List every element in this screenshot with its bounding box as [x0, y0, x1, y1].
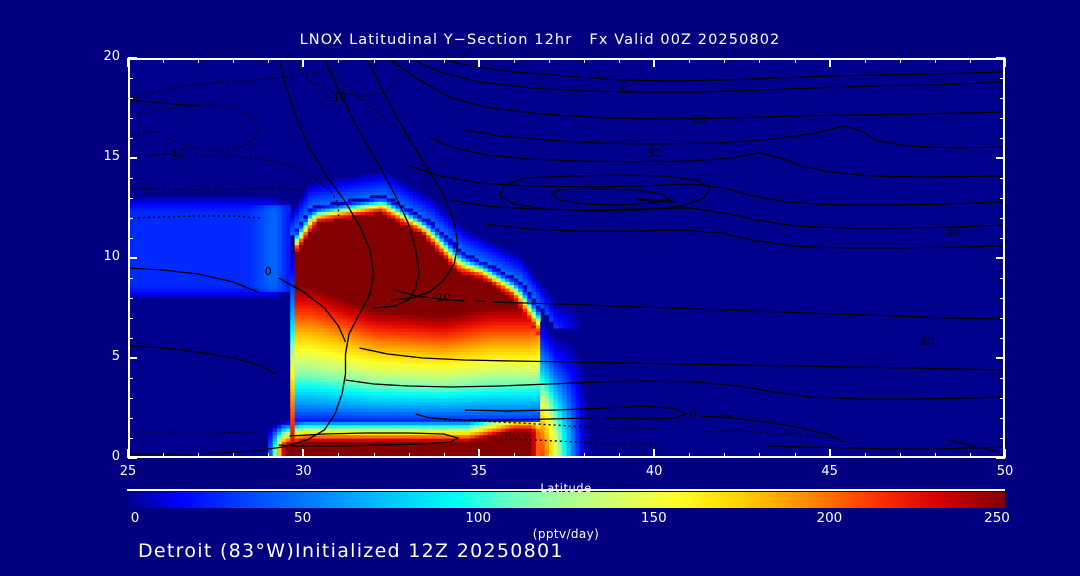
x-tick-mark [829, 58, 831, 67]
x-minor-tick [619, 58, 620, 63]
y-minor-tick [128, 218, 133, 219]
figure-canvas: LNOX Latitudinal Y−Section 12hr Fx Valid… [0, 0, 1080, 576]
x-tick-mark [127, 58, 129, 67]
y-minor-tick [1000, 338, 1005, 339]
x-tick-mark [653, 449, 655, 458]
x-tick-mark [302, 58, 304, 67]
y-tick-mark [128, 357, 137, 359]
y-minor-tick [1000, 98, 1005, 99]
x-tick-label: 30 [283, 464, 323, 479]
y-tick-mark [128, 157, 137, 159]
plot-area: −10−1010203030101000 [128, 58, 1005, 458]
colorbar-tick-label: 250 [967, 510, 1027, 526]
y-tick-mark [128, 57, 137, 59]
x-minor-tick [163, 453, 164, 458]
y-minor-tick [1000, 178, 1005, 179]
y-minor-tick [1000, 78, 1005, 79]
x-minor-tick [444, 58, 445, 63]
x-tick-mark [653, 58, 655, 67]
x-tick-mark [1004, 449, 1006, 458]
x-minor-tick [268, 58, 269, 63]
y-minor-tick [128, 378, 133, 379]
x-minor-tick [970, 58, 971, 63]
y-minor-tick [128, 338, 133, 339]
x-minor-tick [409, 58, 410, 63]
x-minor-tick [374, 58, 375, 63]
colorbar-tick-label: 200 [799, 510, 859, 526]
x-minor-tick [689, 453, 690, 458]
colorbar-units: (pptv/day) [127, 527, 1005, 541]
x-minor-tick [233, 58, 234, 63]
y-minor-tick [128, 278, 133, 279]
y-tick-label: 0 [80, 449, 120, 464]
x-minor-tick [689, 58, 690, 63]
x-minor-tick [163, 58, 164, 63]
y-minor-tick [128, 178, 133, 179]
colorbar-tick-label: 0 [105, 510, 165, 526]
x-tick-mark [478, 449, 480, 458]
y-minor-tick [1000, 218, 1005, 219]
y-minor-tick [1000, 138, 1005, 139]
y-tick-mark [996, 357, 1005, 359]
colorbar-gradient [127, 492, 1005, 508]
y-minor-tick [128, 438, 133, 439]
y-tick-mark [996, 157, 1005, 159]
x-minor-tick [724, 453, 725, 458]
y-minor-tick [1000, 418, 1005, 419]
x-minor-tick [338, 58, 339, 63]
y-tick-label: 5 [80, 349, 120, 364]
x-minor-tick [900, 58, 901, 63]
y-minor-tick [1000, 438, 1005, 439]
x-minor-tick [759, 58, 760, 63]
y-tick-label: 20 [80, 49, 120, 64]
colorbar-top-rule [127, 489, 1005, 491]
figure-title: LNOX Latitudinal Y−Section 12hr Fx Valid… [0, 32, 1080, 48]
x-minor-tick [935, 58, 936, 63]
x-minor-tick [759, 453, 760, 458]
x-minor-tick [619, 453, 620, 458]
x-minor-tick [935, 453, 936, 458]
x-tick-mark [478, 58, 480, 67]
colorbar-tick-label: 150 [624, 510, 684, 526]
x-tick-mark [1004, 58, 1006, 67]
x-minor-tick [584, 453, 585, 458]
x-minor-tick [514, 58, 515, 63]
y-tick-mark [128, 257, 137, 259]
y-minor-tick [128, 98, 133, 99]
x-minor-tick [795, 453, 796, 458]
y-minor-tick [1000, 118, 1005, 119]
x-tick-label: 50 [985, 464, 1025, 479]
y-minor-tick [128, 238, 133, 239]
y-minor-tick [1000, 378, 1005, 379]
y-minor-tick [128, 138, 133, 139]
y-minor-tick [1000, 298, 1005, 299]
x-minor-tick [900, 453, 901, 458]
x-minor-tick [444, 453, 445, 458]
y-tick-mark [996, 257, 1005, 259]
x-minor-tick [198, 453, 199, 458]
x-minor-tick [584, 58, 585, 63]
y-minor-tick [128, 198, 133, 199]
y-minor-tick [128, 118, 133, 119]
y-minor-tick [128, 78, 133, 79]
x-minor-tick [198, 58, 199, 63]
x-tick-label: 45 [810, 464, 850, 479]
y-minor-tick [1000, 398, 1005, 399]
x-minor-tick [970, 453, 971, 458]
y-minor-tick [128, 398, 133, 399]
y-minor-tick [1000, 278, 1005, 279]
x-tick-mark [127, 449, 129, 458]
y-minor-tick [1000, 318, 1005, 319]
x-minor-tick [549, 453, 550, 458]
cross-section-plot: −10−1010203030101000 [128, 58, 1005, 458]
y-minor-tick [1000, 238, 1005, 239]
x-minor-tick [409, 453, 410, 458]
x-minor-tick [268, 453, 269, 458]
x-minor-tick [233, 453, 234, 458]
y-tick-mark [128, 457, 137, 459]
x-tick-mark [829, 449, 831, 458]
colorbar [127, 492, 1005, 508]
figure-caption: Detroit (83°W)Initialized 12Z 20250801 [138, 540, 564, 562]
y-minor-tick [128, 298, 133, 299]
x-minor-tick [514, 453, 515, 458]
colorbar-tick-label: 50 [273, 510, 333, 526]
x-minor-tick [795, 58, 796, 63]
x-minor-tick [865, 453, 866, 458]
x-minor-tick [865, 58, 866, 63]
y-minor-tick [128, 418, 133, 419]
x-minor-tick [724, 58, 725, 63]
y-minor-tick [1000, 198, 1005, 199]
y-minor-tick [128, 318, 133, 319]
x-minor-tick [374, 453, 375, 458]
y-tick-label: 15 [80, 149, 120, 164]
y-tick-label: 10 [80, 249, 120, 264]
x-tick-mark [302, 449, 304, 458]
x-tick-label: 25 [108, 464, 148, 479]
x-tick-label: 40 [634, 464, 674, 479]
x-tick-label: 35 [459, 464, 499, 479]
colorbar-tick-label: 100 [448, 510, 508, 526]
x-minor-tick [549, 58, 550, 63]
x-minor-tick [338, 453, 339, 458]
